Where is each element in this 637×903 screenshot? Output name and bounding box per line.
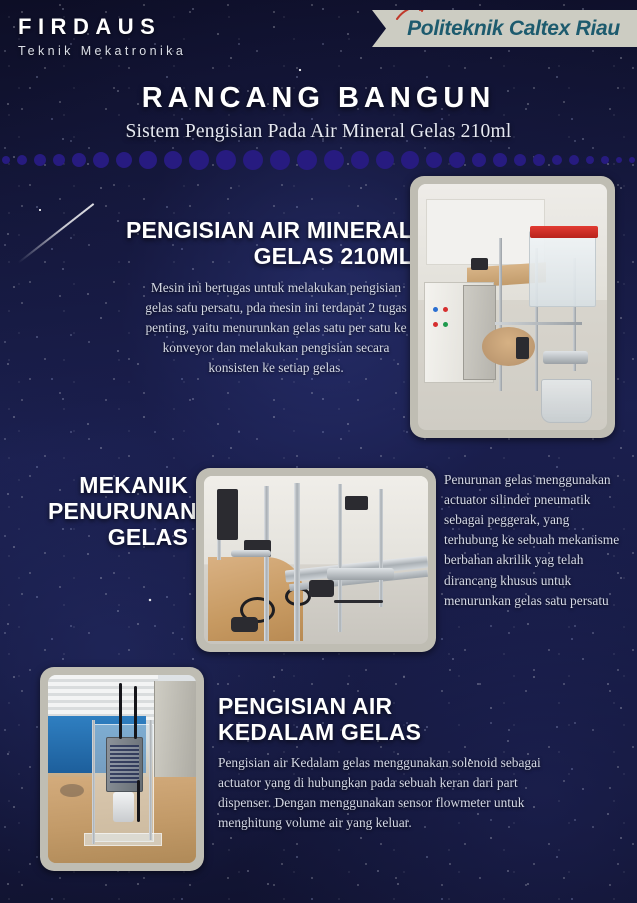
divider-dot (426, 152, 442, 168)
poster-subtitle: Sistem Pengisian Pada Air Mineral Gelas … (0, 121, 637, 143)
section-1-title-line1: PENGISIAN AIR MINERAL (118, 218, 413, 244)
divider-dot (351, 151, 369, 169)
section-2-title-line1: MEKANIK (48, 473, 188, 499)
divider-dot (270, 150, 290, 170)
section-1-title-line2: GELAS 210ML (118, 244, 413, 270)
section-2-title-line3: GELAS (48, 525, 188, 551)
divider-dot (164, 151, 182, 169)
divider-dot (324, 150, 344, 170)
section-3-title-line2: KEDALAM GELAS (218, 720, 548, 746)
section-2-title: MEKANIK PENURUNAN GELAS (48, 473, 188, 550)
divider-dot (17, 155, 27, 165)
divider-dot (243, 150, 263, 170)
divider-dot (2, 156, 10, 164)
author-name: FIRDAUS (18, 16, 186, 38)
divider-dot (569, 155, 579, 165)
dot-divider (0, 148, 637, 172)
section-2-body: Penurunan gelas menggunakan actuator sil… (444, 470, 622, 611)
divider-dot (116, 152, 132, 168)
divider-dot (216, 150, 236, 170)
institution-logo-banner: Politeknik Caltex Riau (372, 10, 637, 47)
mesin-pengisian-air-mineral-photo (418, 184, 607, 430)
divider-dot (34, 154, 46, 166)
divider-dot (493, 153, 507, 167)
divider-dot (376, 151, 394, 169)
divider-dot (72, 153, 86, 167)
author-block: FIRDAUS Teknik Mekatronika (18, 16, 186, 58)
poster-title-block: RANCANG BANGUN Sistem Pengisian Pada Air… (0, 82, 637, 143)
divider-dot (533, 154, 545, 166)
divider-dot (139, 151, 157, 169)
section-3-title: PENGISIAN AIR KEDALAM GELAS (218, 694, 548, 746)
section-3-title-line1: PENGISIAN AIR (218, 694, 548, 720)
author-program: Teknik Mekatronika (18, 45, 186, 58)
divider-dot (401, 151, 419, 169)
divider-dot (449, 152, 465, 168)
divider-dot (297, 150, 317, 170)
section-1-photo-frame (410, 176, 615, 438)
section-1-title: PENGISIAN AIR MINERAL GELAS 210ML (118, 218, 413, 270)
section-2-photo-frame (196, 468, 436, 652)
divider-dot (552, 155, 562, 165)
divider-dot (616, 157, 622, 163)
divider-dot (472, 153, 486, 167)
divider-dot (514, 154, 526, 166)
logo-swoosh-icon (396, 5, 426, 21)
mekanik-penurunan-gelas-photo (204, 476, 428, 644)
section-1-body: Mesin ini bertugas untuk melakukan pengi… (140, 278, 412, 379)
section-2-title-line2: PENURUNAN (48, 499, 188, 525)
divider-dot (93, 152, 109, 168)
poster-title: RANCANG BANGUN (0, 82, 637, 115)
pengisian-air-kedalam-gelas-photo (48, 675, 196, 863)
divider-dot (586, 156, 594, 164)
divider-dot (629, 157, 635, 163)
shooting-star-streak (17, 203, 94, 264)
section-3-body: Pengisian air Kedalam gelas menggunakan … (218, 753, 558, 833)
divider-dot (53, 154, 65, 166)
section-3-photo-frame (40, 667, 204, 871)
poster-canvas: FIRDAUS Teknik Mekatronika Politeknik Ca… (0, 0, 637, 903)
divider-dot (601, 156, 609, 164)
divider-dot (189, 150, 209, 170)
